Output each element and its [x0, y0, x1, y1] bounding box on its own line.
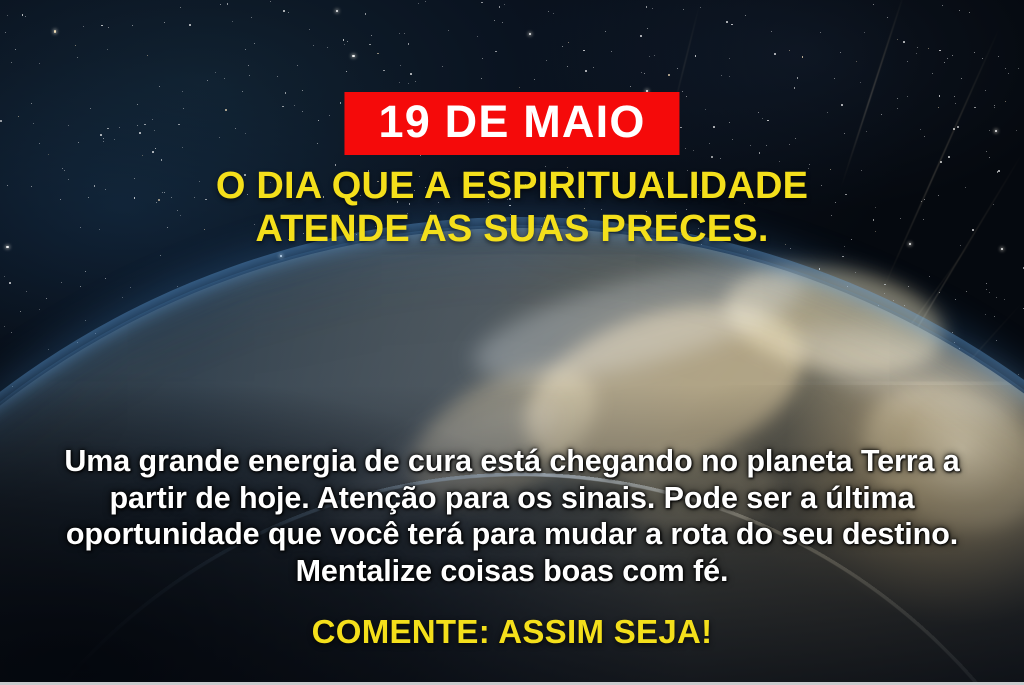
- poster-canvas: 19 DE MAIO O DIA QUE A ESPIRITUALIDADE A…: [0, 0, 1024, 685]
- date-banner-label: 19 DE MAIO: [378, 99, 645, 145]
- poster-content: 19 DE MAIO O DIA QUE A ESPIRITUALIDADE A…: [0, 0, 1024, 685]
- page-title: O DIA QUE A ESPIRITUALIDADE ATENDE AS SU…: [0, 165, 1024, 250]
- headline-line-2: ATENDE AS SUAS PRECES.: [255, 208, 768, 250]
- body-paragraph: Uma grande energia de cura está chegando…: [0, 443, 1024, 589]
- date-banner: 19 DE MAIO: [344, 92, 679, 155]
- headline-line-1: O DIA QUE A ESPIRITUALIDADE: [216, 165, 808, 207]
- call-to-action-label: COMENTE: ASSIM SEJA!: [0, 613, 1024, 651]
